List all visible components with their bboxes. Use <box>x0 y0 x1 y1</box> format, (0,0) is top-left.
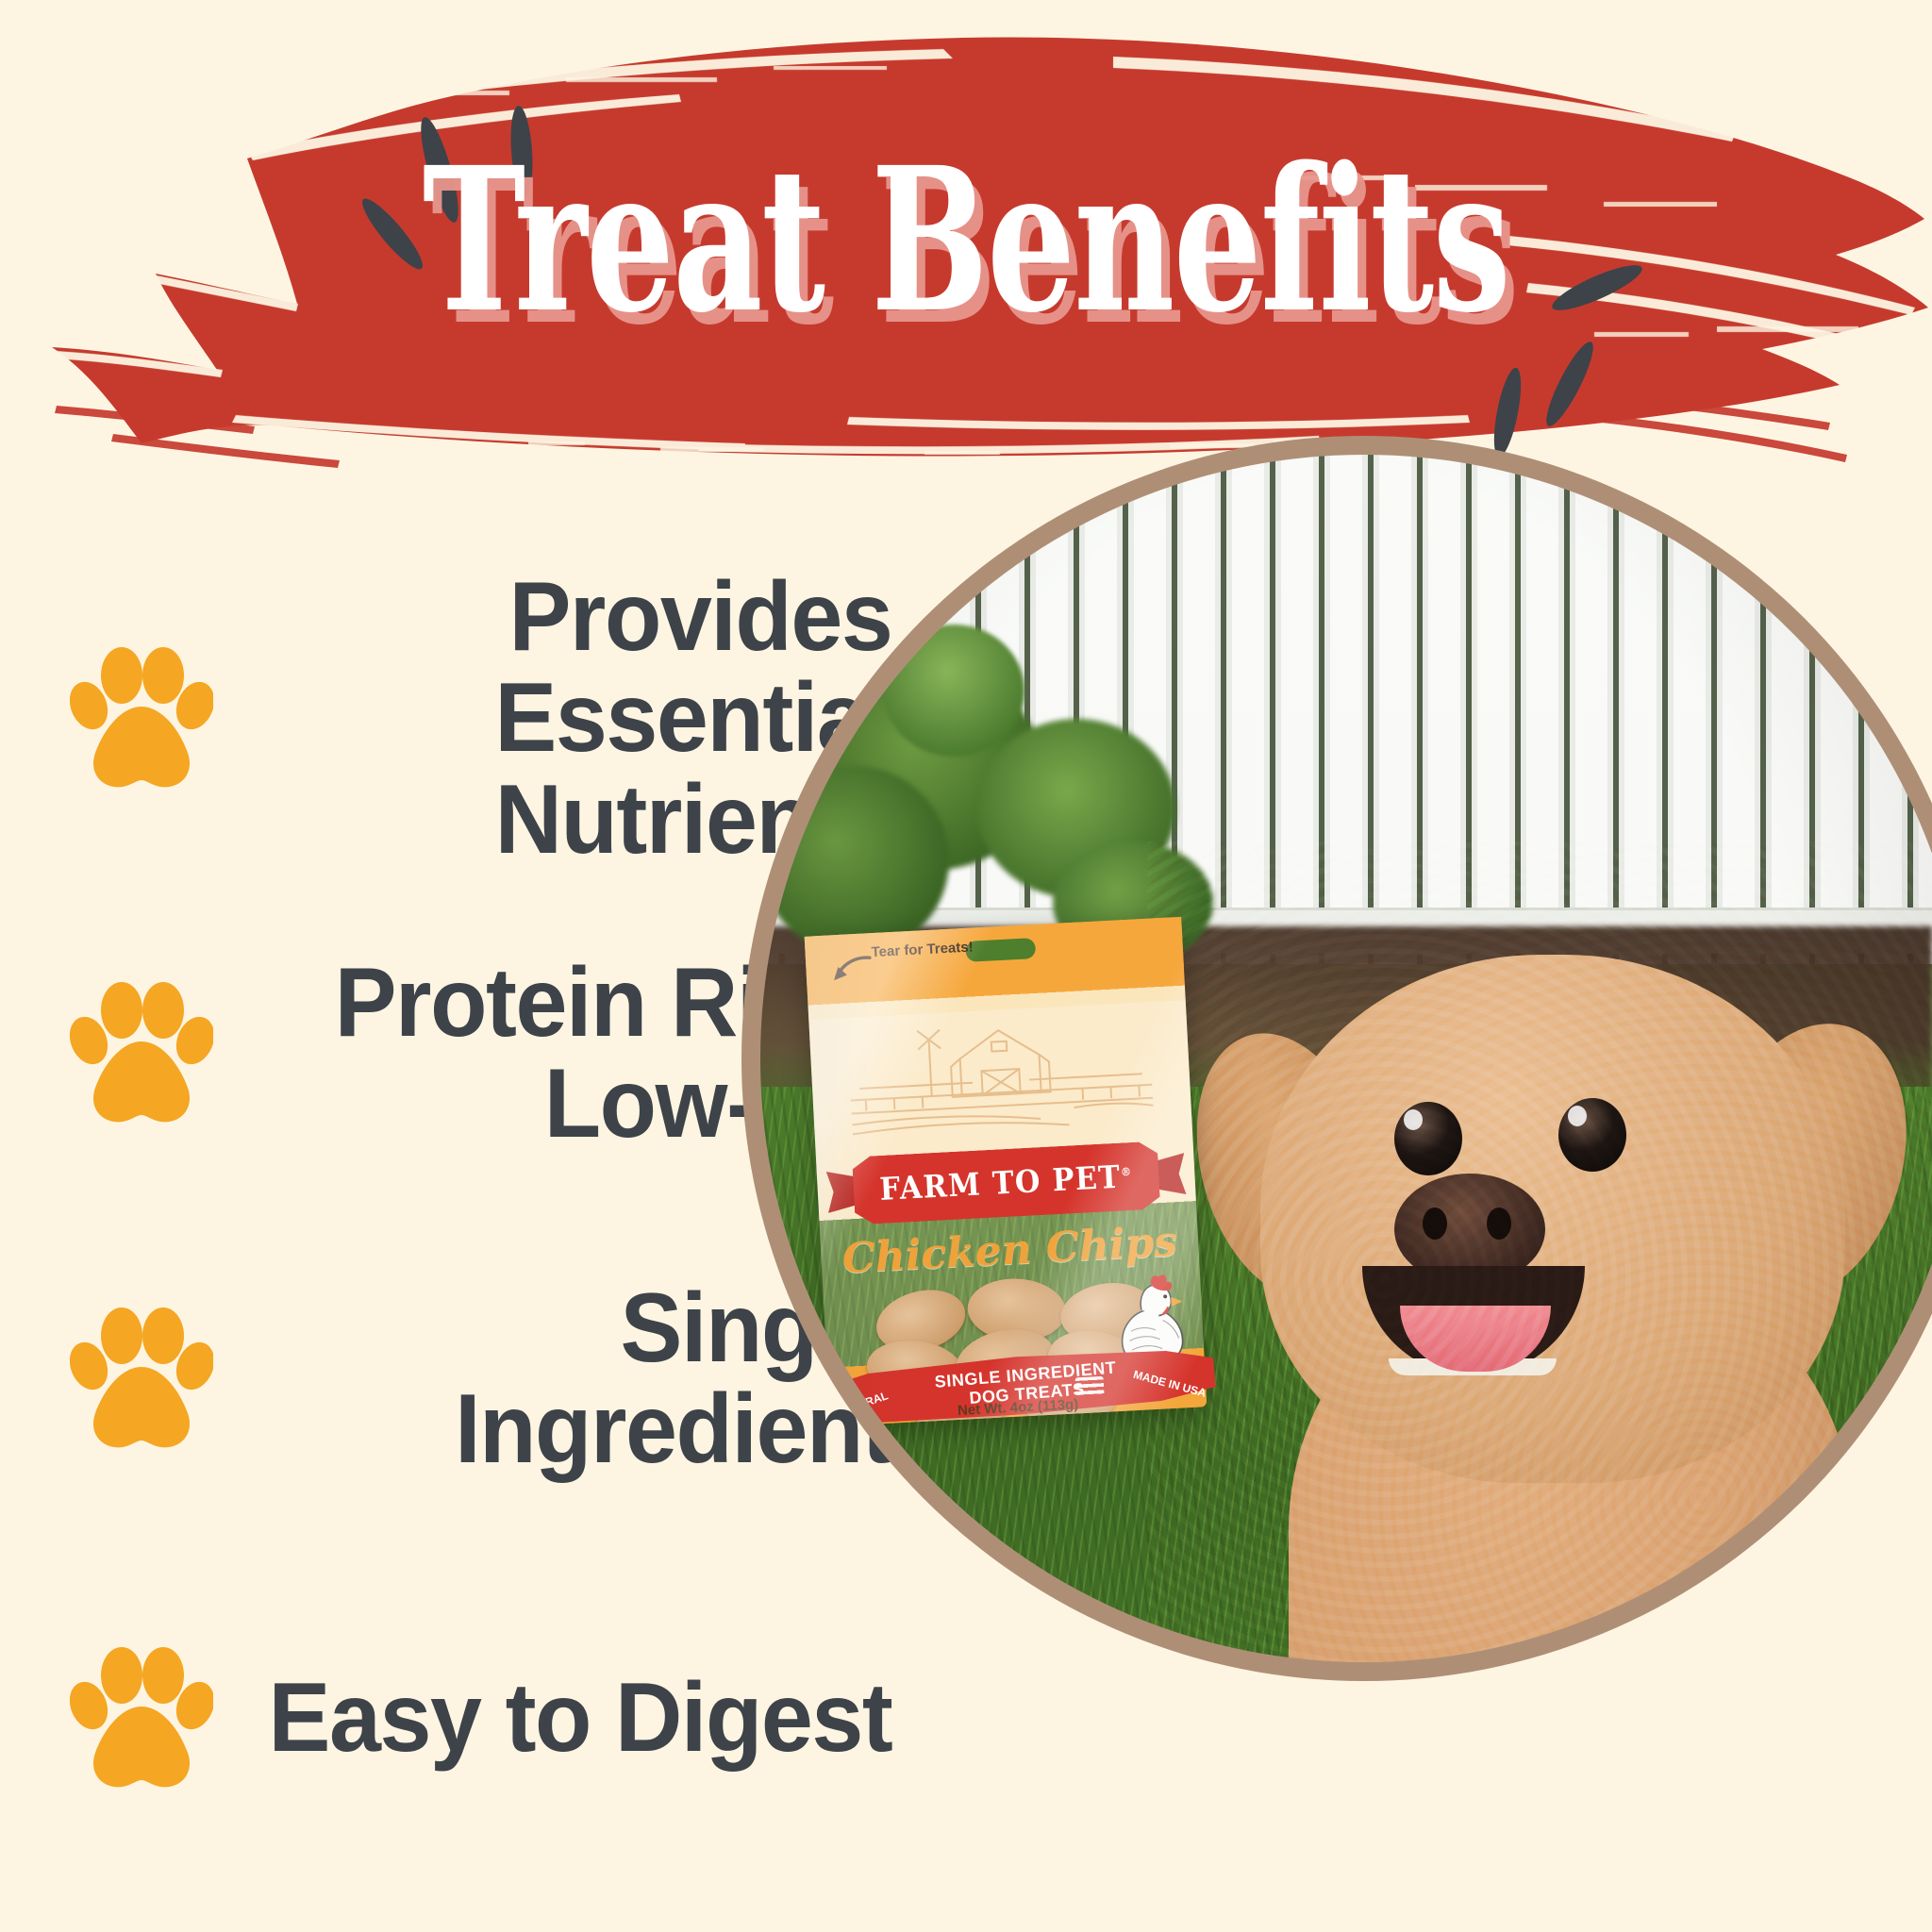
poster-canvas: Treat Benefits Provides Essential Nutrie… <box>0 0 1932 1932</box>
dog-poodle <box>1147 841 1932 1932</box>
dog-eye-glint-right <box>1568 1106 1587 1126</box>
dog-eye-left <box>1394 1102 1462 1175</box>
paw-icon <box>70 642 213 795</box>
dog-nostril-right <box>1487 1207 1511 1240</box>
tear-arrow-icon <box>830 954 874 984</box>
paw-icon <box>70 1642 213 1795</box>
benefit-label-4: Easy to Digest <box>250 1668 953 1769</box>
dog-eye-glint-left <box>1404 1109 1423 1130</box>
dog-nostril-left <box>1423 1207 1447 1240</box>
registered-mark: ® <box>1121 1165 1133 1179</box>
dog-eye-right <box>1558 1098 1626 1172</box>
benefit-item-4: Easy to Digest <box>0 1577 953 1860</box>
header-banner: Treat Benefits <box>0 0 1932 528</box>
product-package: Tear for Treats! <box>805 917 1207 1426</box>
paw-icon <box>70 1303 213 1456</box>
brush-stroke-shape <box>0 0 1932 528</box>
paw-icon <box>70 977 213 1130</box>
dog-head <box>1260 955 1845 1483</box>
barn-illustration <box>846 994 1155 1142</box>
